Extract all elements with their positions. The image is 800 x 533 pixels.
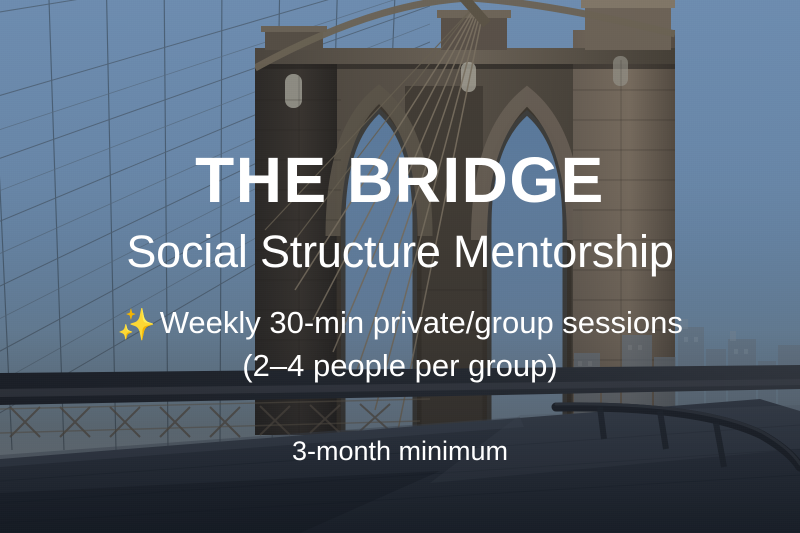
commitment-note: 3-month minimum <box>292 435 508 467</box>
sparkles-icon: ✨ <box>117 305 156 346</box>
promo-card: THE BRIDGE Social Structure Mentorship ✨… <box>0 0 800 533</box>
page-title: THE BRIDGE <box>195 148 605 212</box>
session-group-size-text: (2–4 people per group) <box>117 346 683 387</box>
session-details: ✨Weekly 30-min private/group sessions (2… <box>117 303 683 387</box>
promo-copy: THE BRIDGE Social Structure Mentorship ✨… <box>0 0 800 533</box>
session-frequency-text: Weekly 30-min private/group sessions <box>160 305 683 340</box>
session-details-line-1: ✨Weekly 30-min private/group sessions <box>117 303 683 346</box>
subtitle: Social Structure Mentorship <box>126 228 673 275</box>
